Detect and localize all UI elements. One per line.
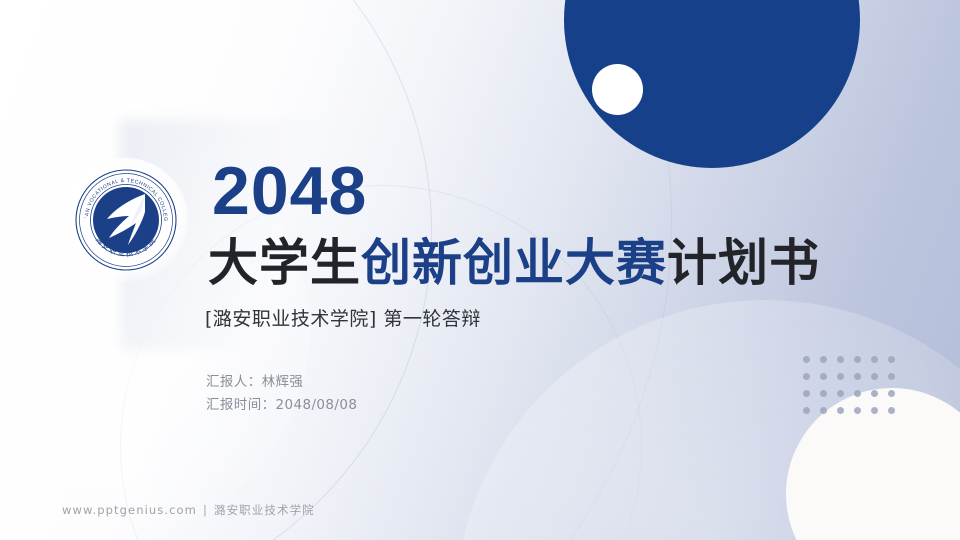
footer-website: www.pptgenius.com: [62, 503, 197, 517]
slide-year: 2048: [212, 157, 367, 225]
headline-part-1: 大学生: [208, 234, 361, 292]
presentation-meta: 汇报人：林辉强 汇报时间：2048/08/08: [206, 371, 357, 417]
slide-headline: 大学生创新创业大赛计划书: [208, 236, 820, 290]
decorative-circle-white-small: [592, 64, 643, 115]
slide-subtitle: [潞安职业技术学院] 第一轮答辩: [205, 304, 481, 331]
headline-part-3: 计划书: [667, 234, 820, 292]
decorative-dot-grid: [803, 356, 905, 424]
headline-part-2: 创新创业大赛: [361, 234, 667, 292]
footer-organization: 潞安职业技术学院: [214, 503, 315, 517]
presentation-slide: LU'AN VOCATIONAL & TECHNICAL COLLEGE 潞安职…: [0, 0, 960, 540]
presenter-name: 汇报人：林辉强: [206, 371, 357, 394]
footer-separator: |: [203, 503, 208, 517]
slide-footer: www.pptgenius.com|潞安职业技术学院: [62, 502, 315, 518]
school-logo: LU'AN VOCATIONAL & TECHNICAL COLLEGE 潞安职…: [64, 158, 188, 282]
school-emblem-icon: LU'AN VOCATIONAL & TECHNICAL COLLEGE 潞安职…: [73, 167, 179, 273]
presentation-date: 汇报时间：2048/08/08: [206, 394, 357, 417]
